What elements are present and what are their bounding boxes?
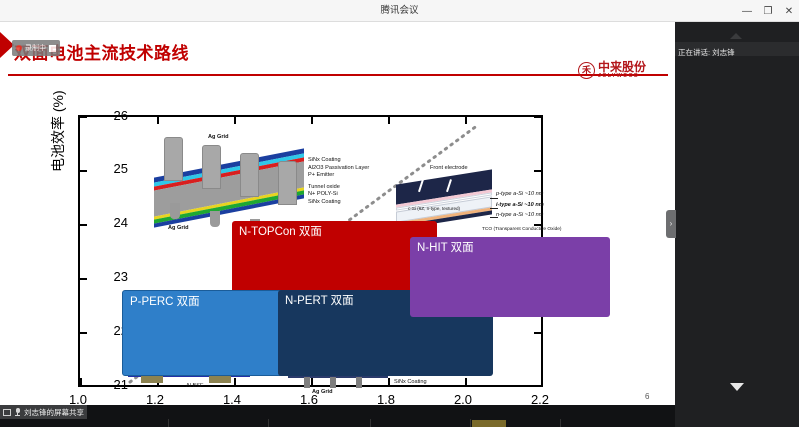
topcon-finger bbox=[164, 137, 183, 181]
record-dot-icon bbox=[16, 45, 22, 51]
recording-indicator[interactable]: 录制中 bbox=[12, 40, 60, 56]
company-logo: 禾 中来股份 JOLYWOOD bbox=[578, 62, 646, 79]
topcon-bottom-grid-label: Ag Grid bbox=[168, 225, 189, 233]
windows-taskbar: 刘志锋的屏幕共享 bbox=[0, 405, 675, 427]
taskbar-divider bbox=[370, 419, 371, 427]
logo-mark-icon: 禾 bbox=[578, 62, 595, 79]
collapse-rail-chevron-icon[interactable]: › bbox=[666, 210, 676, 238]
topcon-top-grid-label: Ag Grid bbox=[208, 134, 229, 142]
perc-bottom-label: Al BSF bbox=[186, 383, 203, 391]
close-button[interactable]: ✕ bbox=[783, 6, 795, 17]
hit-front-electrode-label: Front electrode bbox=[430, 165, 468, 173]
taskbar-share-label: 刘志锋的屏幕共享 bbox=[24, 407, 84, 418]
pert-rear-contact bbox=[330, 377, 336, 388]
hit-layer-labels: p-type a-Si ~10 nm i-type a-Si ~10 nm n-… bbox=[496, 191, 544, 220]
taskbar-divider bbox=[168, 419, 169, 427]
maximize-button[interactable]: ❐ bbox=[762, 6, 774, 17]
scroll-up-caret-icon[interactable] bbox=[730, 33, 742, 39]
chart-plot-area: Ag Grid Ag Grid bbox=[78, 115, 543, 387]
topcon-label-0: SiNx Coating bbox=[308, 157, 369, 165]
badge-n-hit: N-HIT 双面 bbox=[410, 237, 610, 317]
pert-rear-contact bbox=[304, 377, 310, 388]
hit-wafer-label: c-Si (6Z, n-type, textured) bbox=[408, 206, 460, 212]
hit-pointer-p bbox=[490, 198, 498, 199]
taskbar-highlight-cell[interactable] bbox=[472, 420, 506, 427]
topcon-finger bbox=[240, 153, 259, 197]
topcon-rear-contact bbox=[210, 211, 220, 227]
minimize-button[interactable]: — bbox=[741, 6, 753, 17]
participant-rail: 刘志峰 丁浩 张欣 bbox=[675, 22, 799, 427]
perc-al-bsf-pad bbox=[141, 375, 163, 383]
topcon-label-5: SiNx Coating bbox=[308, 199, 369, 207]
window-title-bar: 腾讯会议 — ❐ ✕ bbox=[0, 0, 799, 22]
hit-tco-label: TCO (Transparent Conductive Oxide) bbox=[482, 227, 562, 233]
speaking-status-text: 正在讲话: 刘志锋 bbox=[678, 48, 735, 57]
y-axis-label: 电池效率 (%) bbox=[48, 90, 68, 172]
speaking-status-bar: 正在讲话: 刘志锋 bbox=[675, 42, 799, 56]
logo-text-cn: 中来股份 bbox=[598, 62, 646, 73]
topcon-label-1: Al2O3 Passivation Layer bbox=[308, 165, 369, 173]
perc-al-bsf-pad bbox=[209, 375, 231, 383]
title-underline bbox=[8, 74, 668, 76]
hit-label-i: i-type a-Si ~10 nm bbox=[496, 202, 544, 210]
hit-pointer-n bbox=[490, 217, 498, 218]
hit-label-p: p-type a-Si ~10 nm bbox=[496, 191, 544, 199]
app-root: 腾讯会议 — ❐ ✕ 双面电池主流技术路线 录制中 禾 中来股份 JOLYWOO… bbox=[0, 0, 799, 427]
scroll-down-caret-icon[interactable] bbox=[730, 383, 744, 391]
topcon-layer-labels: SiNx Coating Al2O3 Passivation Layer P+ … bbox=[308, 157, 369, 206]
taskbar-divider bbox=[470, 419, 471, 427]
hit-pointer-i bbox=[490, 208, 498, 209]
topcon-label-2: P+ Emitter bbox=[308, 172, 369, 180]
topcon-rear-contact bbox=[170, 203, 180, 219]
hit-label-n: n-type a-Si ~10 nm bbox=[496, 212, 544, 220]
microphone-icon bbox=[13, 408, 22, 417]
monitor-icon bbox=[3, 409, 11, 416]
pert-rear-contact bbox=[356, 377, 362, 388]
logo-text-en: JOLYWOOD bbox=[598, 73, 646, 79]
pert-label-4: SiNx Coating bbox=[394, 379, 427, 387]
window-title: 腾讯会议 bbox=[0, 0, 799, 22]
stop-square-icon[interactable] bbox=[49, 45, 56, 52]
topcon-finger bbox=[278, 161, 297, 205]
taskbar-divider bbox=[560, 419, 561, 427]
pert-bottom-grid-label: Ag Grid bbox=[312, 389, 333, 397]
topcon-finger bbox=[202, 145, 221, 189]
taskbar-share-item[interactable]: 刘志锋的屏幕共享 bbox=[0, 405, 87, 419]
page-number: 6 bbox=[645, 392, 649, 401]
window-controls: — ❐ ✕ bbox=[741, 0, 795, 22]
shared-screen-slide: 双面电池主流技术路线 录制中 禾 中来股份 JOLYWOOD 电池效率 (%) … bbox=[0, 22, 675, 405]
topcon-label-3: Tunnel oxide bbox=[308, 184, 369, 192]
recording-label: 录制中 bbox=[25, 43, 46, 53]
taskbar-divider bbox=[268, 419, 269, 427]
topcon-label-4: N+ POLY-Si bbox=[308, 191, 369, 199]
